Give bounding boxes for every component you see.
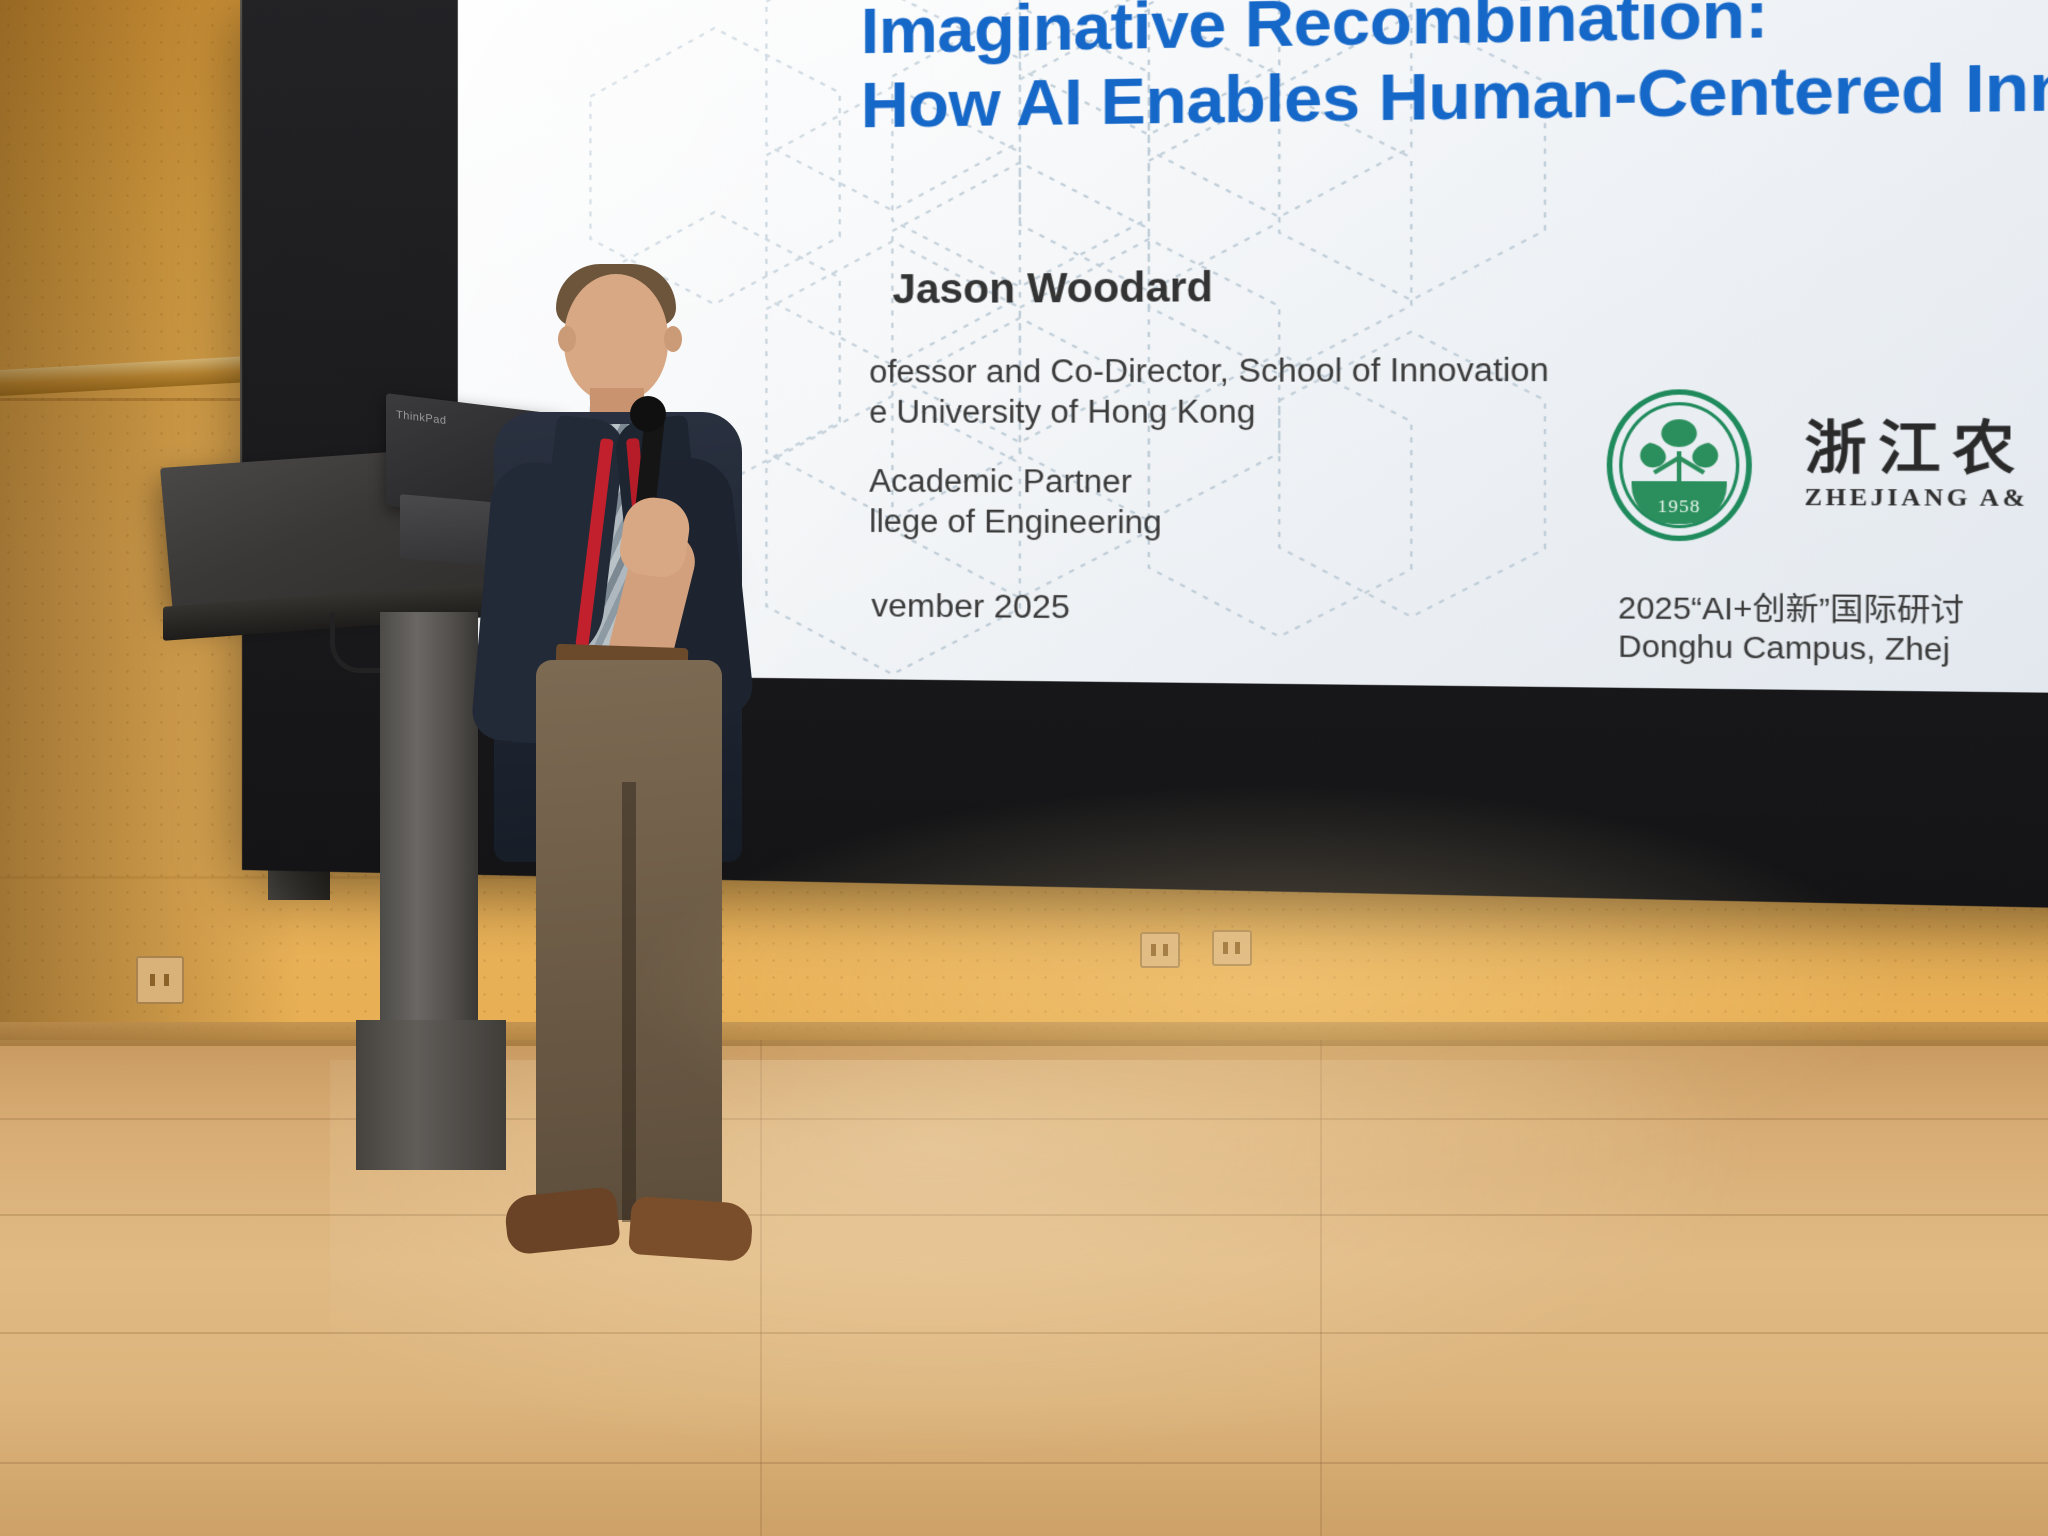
lecture-hall-photo: Imaginative Recombination: How AI Enable… [0, 0, 2048, 1536]
ginkgo-tree-icon [1636, 415, 1722, 486]
lectern-column [380, 612, 478, 1032]
shoe-right [628, 1196, 754, 1262]
ambient-light-glow [620, 780, 1920, 1200]
affiliation-line-1: ofessor and Co-Director, School of Innov… [869, 348, 1976, 393]
wordmark-latin: ZHEJIANG A& [1804, 484, 2028, 513]
ear-left [558, 326, 576, 352]
slide-date: vember 2025 [871, 587, 1070, 627]
slide-logos: 1958 浙江农 ZHEJIANG A& [1607, 389, 2029, 543]
microphone-head-icon [630, 396, 666, 432]
slide-title: Imaginative Recombination: How AI Enable… [861, 0, 2048, 143]
event-line-2: Donghu Campus, Zhej [1618, 630, 1950, 669]
seal-year: 1958 [1607, 496, 1752, 518]
head [564, 274, 668, 402]
wordmark-chinese: 浙江农 [1804, 419, 2026, 478]
event-line-1: 2025“AI+创新”国际研讨 [1618, 583, 1964, 631]
ear-right [664, 326, 682, 352]
wall-outlet [136, 956, 184, 1004]
university-seal-icon: 1958 [1607, 389, 1752, 541]
zhejiang-af-wordmark: 浙江农 ZHEJIANG A& [1804, 419, 2028, 512]
presenter-name: Jason Woodard [892, 265, 1213, 314]
shoe-left [503, 1186, 620, 1255]
